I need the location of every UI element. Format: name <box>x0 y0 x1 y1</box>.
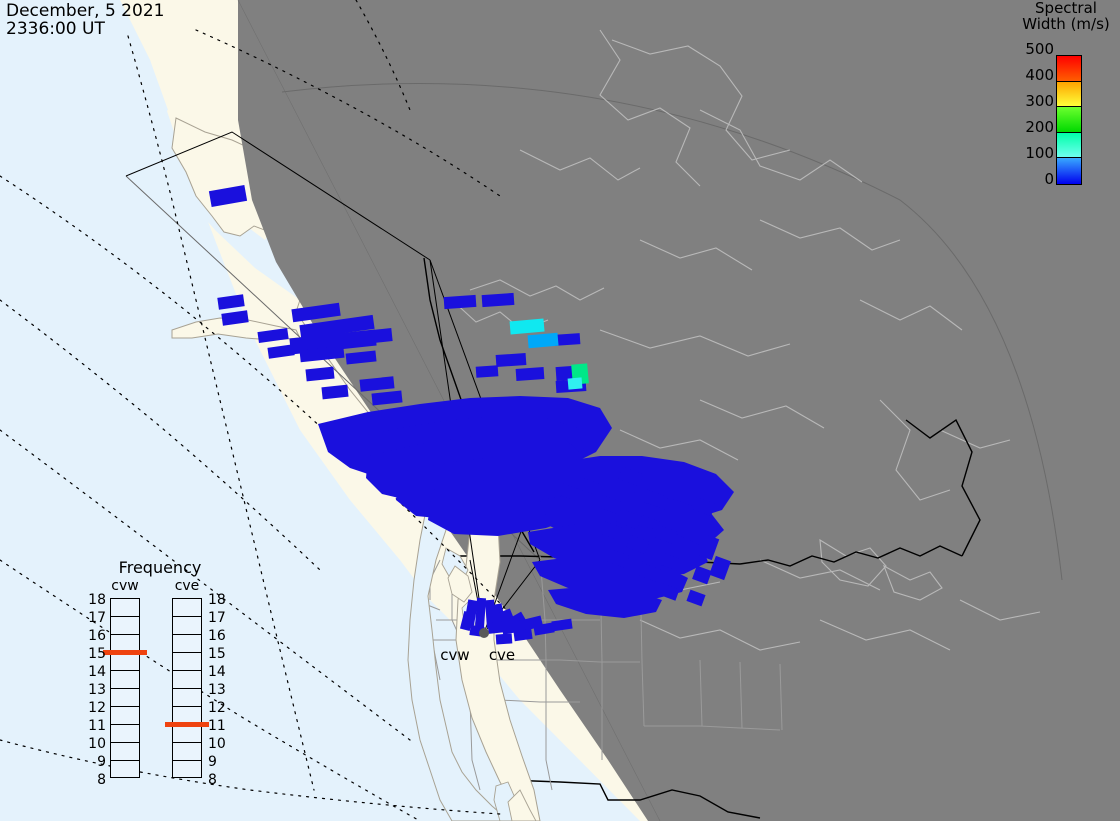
colorbar-segment-200-300 <box>1057 107 1081 133</box>
frequency-scale-cvw <box>110 598 140 778</box>
freq-label-cvw-10: 10 <box>82 737 106 751</box>
freq-label-cvw-15: 15 <box>82 647 106 661</box>
timestamp-overlay: December, 5 2021 2336:00 UT <box>6 2 164 38</box>
freq-label-cvw-13: 13 <box>82 683 106 697</box>
frequency-panel: Frequency cvw cve 18 17 16 15 14 13 12 <box>84 558 236 790</box>
frequency-marker-cvw <box>103 650 147 655</box>
colorbar-tick-labels: 500 400 300 200 100 0 <box>1012 42 1054 198</box>
freq-label-cvw-11: 11 <box>82 719 106 733</box>
freq-label-cvw-17: 17 <box>82 611 106 625</box>
colorbar-tick-500: 500 <box>1012 42 1054 57</box>
colorbar-legend: Spectral Width (m/s) 500 400 300 200 100… <box>1012 0 1120 195</box>
freq-label-cve-10: 10 <box>208 737 232 751</box>
freq-label-cve-18: 18 <box>208 593 232 607</box>
freq-label-cvw-16: 16 <box>82 629 106 643</box>
freq-label-cve-16: 16 <box>208 629 232 643</box>
freq-label-cvw-18: 18 <box>82 593 106 607</box>
colorbar-tick-200: 200 <box>1012 120 1054 135</box>
colorbar-segment-300-400 <box>1057 82 1081 108</box>
colorbar-segment-0-100 <box>1057 158 1081 184</box>
frequency-column-header-cve: cve <box>164 578 210 594</box>
frequency-scale-cve <box>172 598 202 778</box>
freq-label-cve-12: 12 <box>208 701 232 715</box>
freq-label-cvw-9: 9 <box>82 755 106 769</box>
colorbar-tick-300: 300 <box>1012 94 1054 109</box>
freq-label-cve-11: 11 <box>208 719 232 733</box>
radar-map-figure: cvw cve December, 5 2021 2336:00 UT Spec… <box>0 0 1120 821</box>
freq-label-cve-14: 14 <box>208 665 232 679</box>
colorbar-segment-100-200 <box>1057 133 1081 159</box>
freq-label-cvw-8: 8 <box>82 773 106 787</box>
colorbar-segment-400-500 <box>1057 56 1081 82</box>
freq-label-cve-15: 15 <box>208 647 232 661</box>
frequency-marker-cve <box>165 722 209 727</box>
freq-label-cve-8: 8 <box>208 773 232 787</box>
radar-label-cvw: cvw <box>440 646 469 664</box>
freq-label-cvw-14: 14 <box>82 665 106 679</box>
colorbar-tick-100: 100 <box>1012 146 1054 161</box>
colorbar-title-line2: Width (m/s) <box>1022 15 1110 33</box>
frequency-panel-title: Frequency <box>84 558 236 577</box>
freq-label-cve-17: 17 <box>208 611 232 625</box>
frequency-column-header-cvw: cvw <box>102 578 148 594</box>
freq-label-cvw-12: 12 <box>82 701 106 715</box>
radar-label-cve: cve <box>489 646 515 664</box>
radar-station-marker <box>479 628 489 638</box>
freq-label-cve-13: 13 <box>208 683 232 697</box>
colorbar-title: Spectral Width (m/s) <box>1012 0 1120 32</box>
colorbar-tick-0: 0 <box>1012 172 1054 187</box>
colorbar-tick-400: 400 <box>1012 68 1054 83</box>
colorbar-gradient-bar <box>1056 55 1082 185</box>
freq-label-cve-9: 9 <box>208 755 232 769</box>
timestamp-time: 2336:00 UT <box>6 19 105 39</box>
timestamp-date: December, 5 2021 <box>6 1 164 21</box>
